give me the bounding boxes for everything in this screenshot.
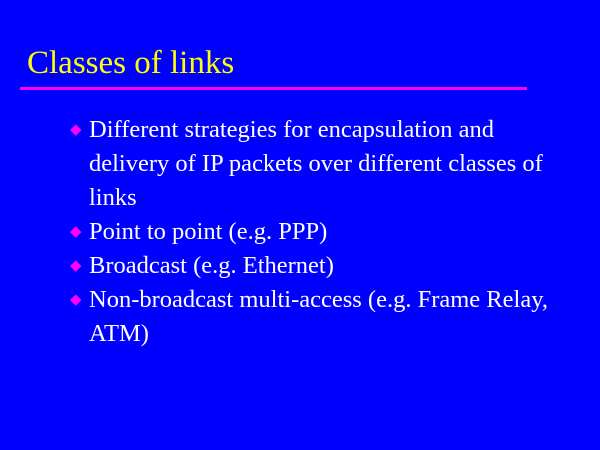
list-item: ◆ Broadcast (e.g. Ethernet) [0,249,600,283]
list-item: ◆ Different strategies for encapsulation… [0,113,600,215]
list-item-label: Broadcast (e.g. Ethernet) [89,249,556,283]
title-underline-divider [20,87,527,90]
diamond-bullet-icon: ◆ [70,283,86,317]
list-item-label: Point to point (e.g. PPP) [89,215,556,249]
diamond-bullet-icon: ◆ [70,249,86,283]
bullet-list: ◆ Different strategies for encapsulation… [0,113,600,351]
list-item: ◆ Non-broadcast multi-access (e.g. Frame… [0,283,600,351]
list-item-label: Non-broadcast multi-access (e.g. Frame R… [89,283,556,351]
presentation-slide: Classes of links ◆ Different strategies … [0,0,600,450]
list-item: ◆ Point to point (e.g. PPP) [0,215,600,249]
page-title: Classes of links [27,44,234,82]
diamond-bullet-icon: ◆ [70,113,86,147]
list-item-label: Different strategies for encapsulation a… [89,113,556,215]
diamond-bullet-icon: ◆ [70,215,86,249]
